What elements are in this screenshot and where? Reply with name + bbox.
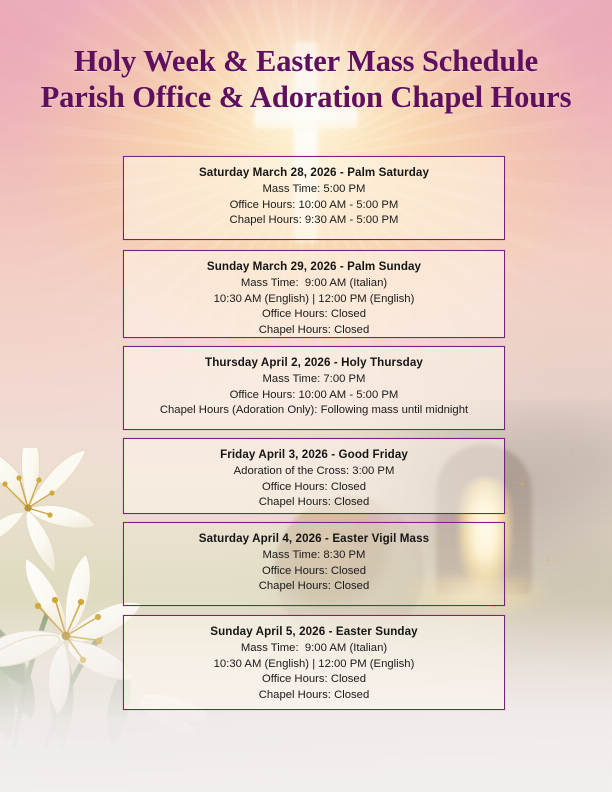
schedule-entry-palm-sunday: Sunday March 29, 2026 - Palm Sunday Mass… bbox=[123, 250, 505, 338]
entry-heading: Sunday April 5, 2026 - Easter Sunday bbox=[124, 625, 504, 638]
entry-line: Office Hours: Closed bbox=[124, 564, 504, 580]
entry-line: Chapel Hours (Adoration Only): Following… bbox=[124, 403, 504, 419]
entry-line: Office Hours: Closed bbox=[124, 307, 504, 323]
entry-line: Chapel Hours: Closed bbox=[124, 495, 504, 511]
entry-heading: Friday April 3, 2026 - Good Friday bbox=[124, 448, 504, 461]
entry-line: Office Hours: 10:00 AM - 5:00 PM bbox=[124, 388, 504, 404]
entry-heading: Thursday April 2, 2026 - Holy Thursday bbox=[124, 356, 504, 369]
entry-line: Mass Time: 9:00 AM (Italian) bbox=[124, 641, 504, 657]
entry-line: 10:30 AM (English) | 12:00 PM (English) bbox=[124, 292, 504, 308]
entry-line: Office Hours: 10:00 AM - 5:00 PM bbox=[124, 198, 504, 214]
schedule-entry-palm-saturday: Saturday March 28, 2026 - Palm Saturday … bbox=[123, 156, 505, 240]
entry-heading: Saturday March 28, 2026 - Palm Saturday bbox=[124, 166, 504, 179]
entry-line: Chapel Hours: Closed bbox=[124, 688, 504, 704]
entry-line: Mass Time: 8:30 PM bbox=[124, 548, 504, 564]
easter-schedule-poster: Holy Week & Easter Mass Schedule Parish … bbox=[0, 0, 612, 792]
entry-line: Mass Time: 5:00 PM bbox=[124, 182, 504, 198]
entry-line: 10:30 AM (English) | 12:00 PM (English) bbox=[124, 657, 504, 673]
entry-line: Office Hours: Closed bbox=[124, 672, 504, 688]
entry-line: Chapel Hours: Closed bbox=[124, 323, 504, 339]
entry-line: Chapel Hours: 9:30 AM - 5:00 PM bbox=[124, 213, 504, 229]
schedule-entry-easter-vigil: Saturday April 4, 2026 - Easter Vigil Ma… bbox=[123, 522, 505, 606]
schedule-list: Saturday March 28, 2026 - Palm Saturday … bbox=[0, 0, 612, 792]
entry-line: Chapel Hours: Closed bbox=[124, 579, 504, 595]
schedule-entry-easter-sunday: Sunday April 5, 2026 - Easter Sunday Mas… bbox=[123, 615, 505, 710]
schedule-entry-holy-thursday: Thursday April 2, 2026 - Holy Thursday M… bbox=[123, 346, 505, 430]
schedule-entry-good-friday: Friday April 3, 2026 - Good Friday Adora… bbox=[123, 438, 505, 514]
entry-line: Mass Time: 7:00 PM bbox=[124, 372, 504, 388]
entry-line: Adoration of the Cross: 3:00 PM bbox=[124, 464, 504, 480]
entry-line: Mass Time: 9:00 AM (Italian) bbox=[124, 276, 504, 292]
entry-heading: Saturday April 4, 2026 - Easter Vigil Ma… bbox=[124, 532, 504, 545]
entry-heading: Sunday March 29, 2026 - Palm Sunday bbox=[124, 260, 504, 273]
entry-line: Office Hours: Closed bbox=[124, 480, 504, 496]
